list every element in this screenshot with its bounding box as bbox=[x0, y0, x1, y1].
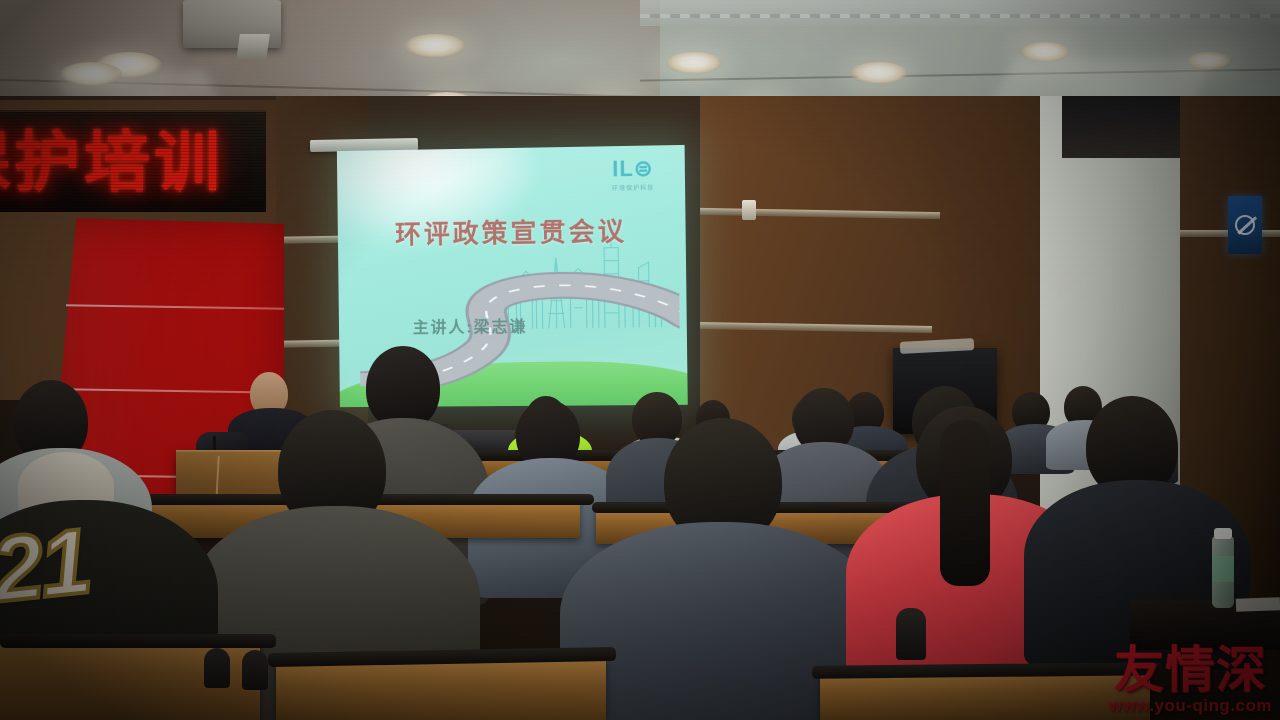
slide-logo: IL⊜ 环境保护科技 bbox=[598, 156, 667, 193]
bench-row-1 bbox=[820, 672, 1150, 720]
ceiling-cornice bbox=[640, 0, 1280, 26]
water-bottle-cap bbox=[1214, 528, 1232, 539]
watermark-url: www.you-qing.com bbox=[1109, 697, 1272, 714]
watermark-brand: 友情深 bbox=[1109, 645, 1272, 695]
bench-armrest bbox=[242, 650, 268, 690]
ceiling-downlight bbox=[1020, 42, 1070, 62]
ceiling-downlight bbox=[666, 52, 722, 74]
wall-sconce-icon bbox=[742, 200, 756, 220]
projector-lens bbox=[236, 34, 270, 60]
bench-armrest bbox=[896, 608, 926, 660]
ceiling-downlight bbox=[850, 62, 908, 84]
slide-logo-caption: 环境保护科技 bbox=[599, 183, 668, 193]
led-banner-text: 保护培训 bbox=[0, 129, 224, 195]
bench-row-1 bbox=[276, 660, 606, 720]
audience-hair-ponytail bbox=[940, 420, 990, 580]
paper-on-desk bbox=[1236, 597, 1280, 612]
ceiling-downlight bbox=[60, 62, 122, 86]
ponytail-shape bbox=[940, 420, 990, 586]
bench-rail-1 bbox=[0, 634, 276, 648]
slide-subtitle: 主讲人:梁志谦 bbox=[359, 312, 581, 338]
ceiling-downlight bbox=[404, 34, 466, 58]
bench-armrest bbox=[204, 648, 230, 688]
watermark: 友情深 www.you-qing.com bbox=[1109, 645, 1272, 714]
jersey-number: 21 bbox=[0, 515, 93, 617]
no-smoking-sign bbox=[1228, 196, 1262, 254]
slide-logo-mark: IL⊜ bbox=[598, 156, 667, 183]
led-banner: 保护培训 bbox=[0, 110, 266, 212]
ceiling-downlight bbox=[1186, 52, 1232, 70]
pillar-shadow-band bbox=[1062, 96, 1190, 158]
water-bottle-label bbox=[1212, 556, 1234, 582]
photo-scene: 保护培训 bbox=[0, 0, 1280, 720]
no-smoking-icon bbox=[1235, 215, 1255, 235]
slide-title: 环评政策宣贯会议 bbox=[338, 210, 686, 252]
